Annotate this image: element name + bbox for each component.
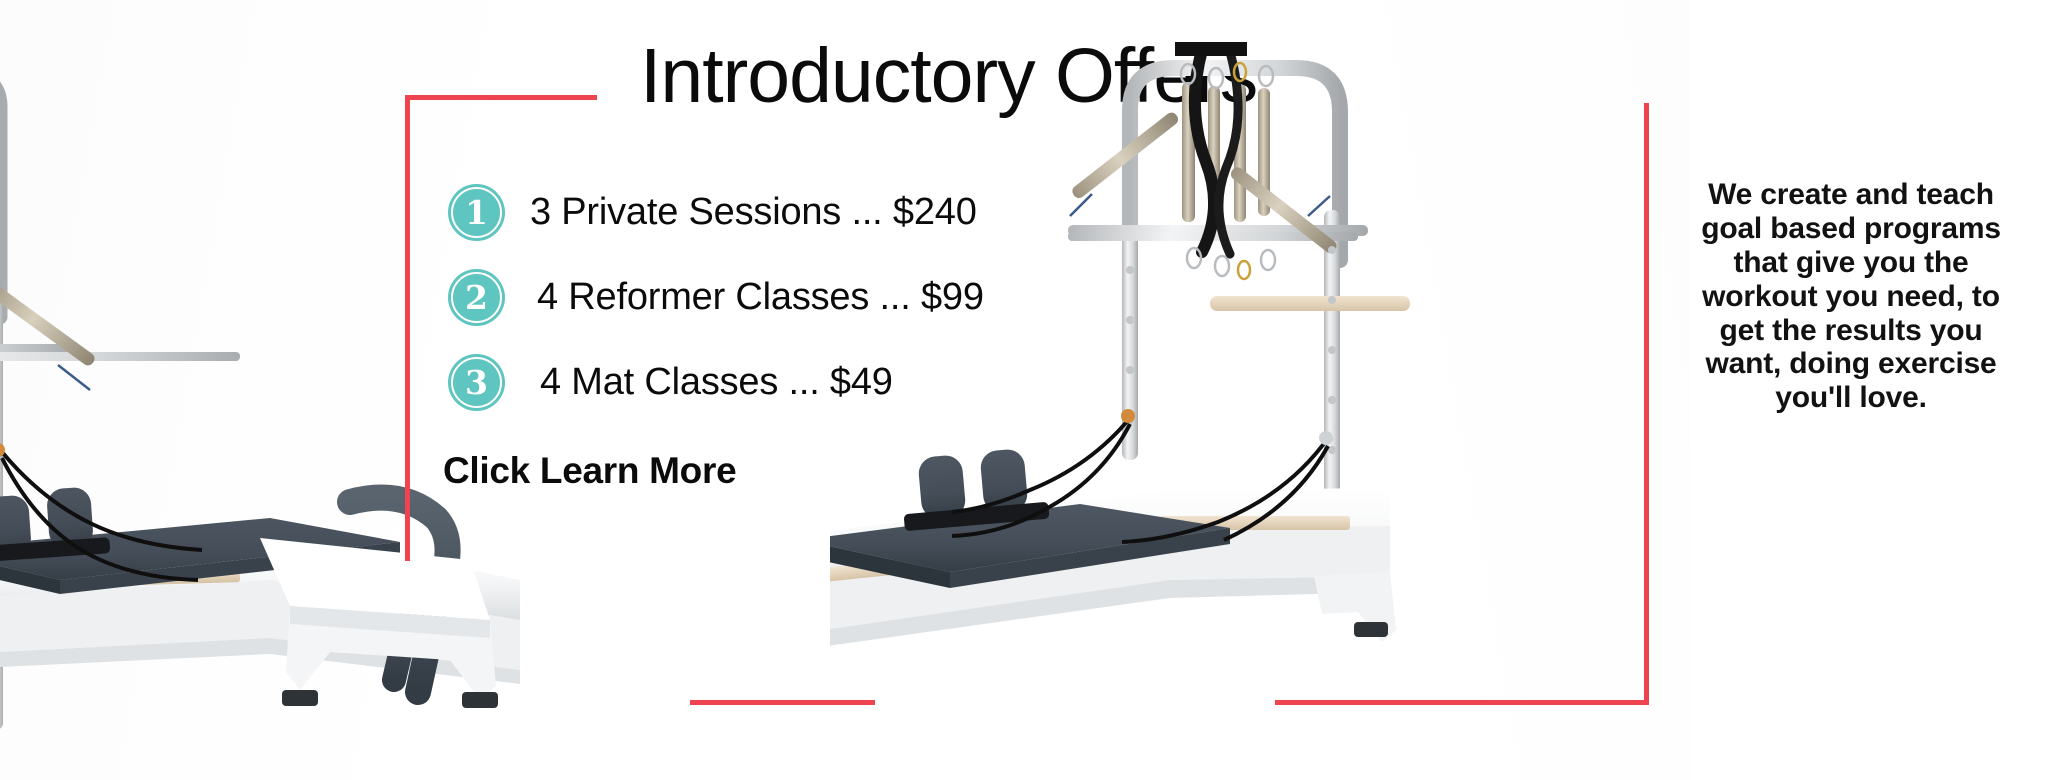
promo-banner: Introductory Offers 1 3 Private Sessions… bbox=[0, 0, 2050, 780]
tagline-paragraph: We create and teach goal based programs … bbox=[1692, 178, 2010, 415]
frame-line-left bbox=[405, 95, 410, 561]
pilates-reformer-right-image bbox=[830, 20, 1490, 720]
pilates-reformer-left-image bbox=[0, 60, 520, 780]
number-badge-3: 3 bbox=[448, 354, 505, 411]
frame-line-top-left bbox=[405, 95, 597, 100]
badge-number: 2 bbox=[465, 281, 488, 314]
number-badge-1: 1 bbox=[448, 184, 505, 241]
number-badge-2: 2 bbox=[448, 269, 505, 326]
badge-number: 1 bbox=[465, 196, 488, 229]
frame-line-right bbox=[1644, 103, 1649, 705]
learn-more-cta[interactable]: Click Learn More bbox=[443, 450, 736, 492]
badge-number: 3 bbox=[465, 366, 488, 399]
